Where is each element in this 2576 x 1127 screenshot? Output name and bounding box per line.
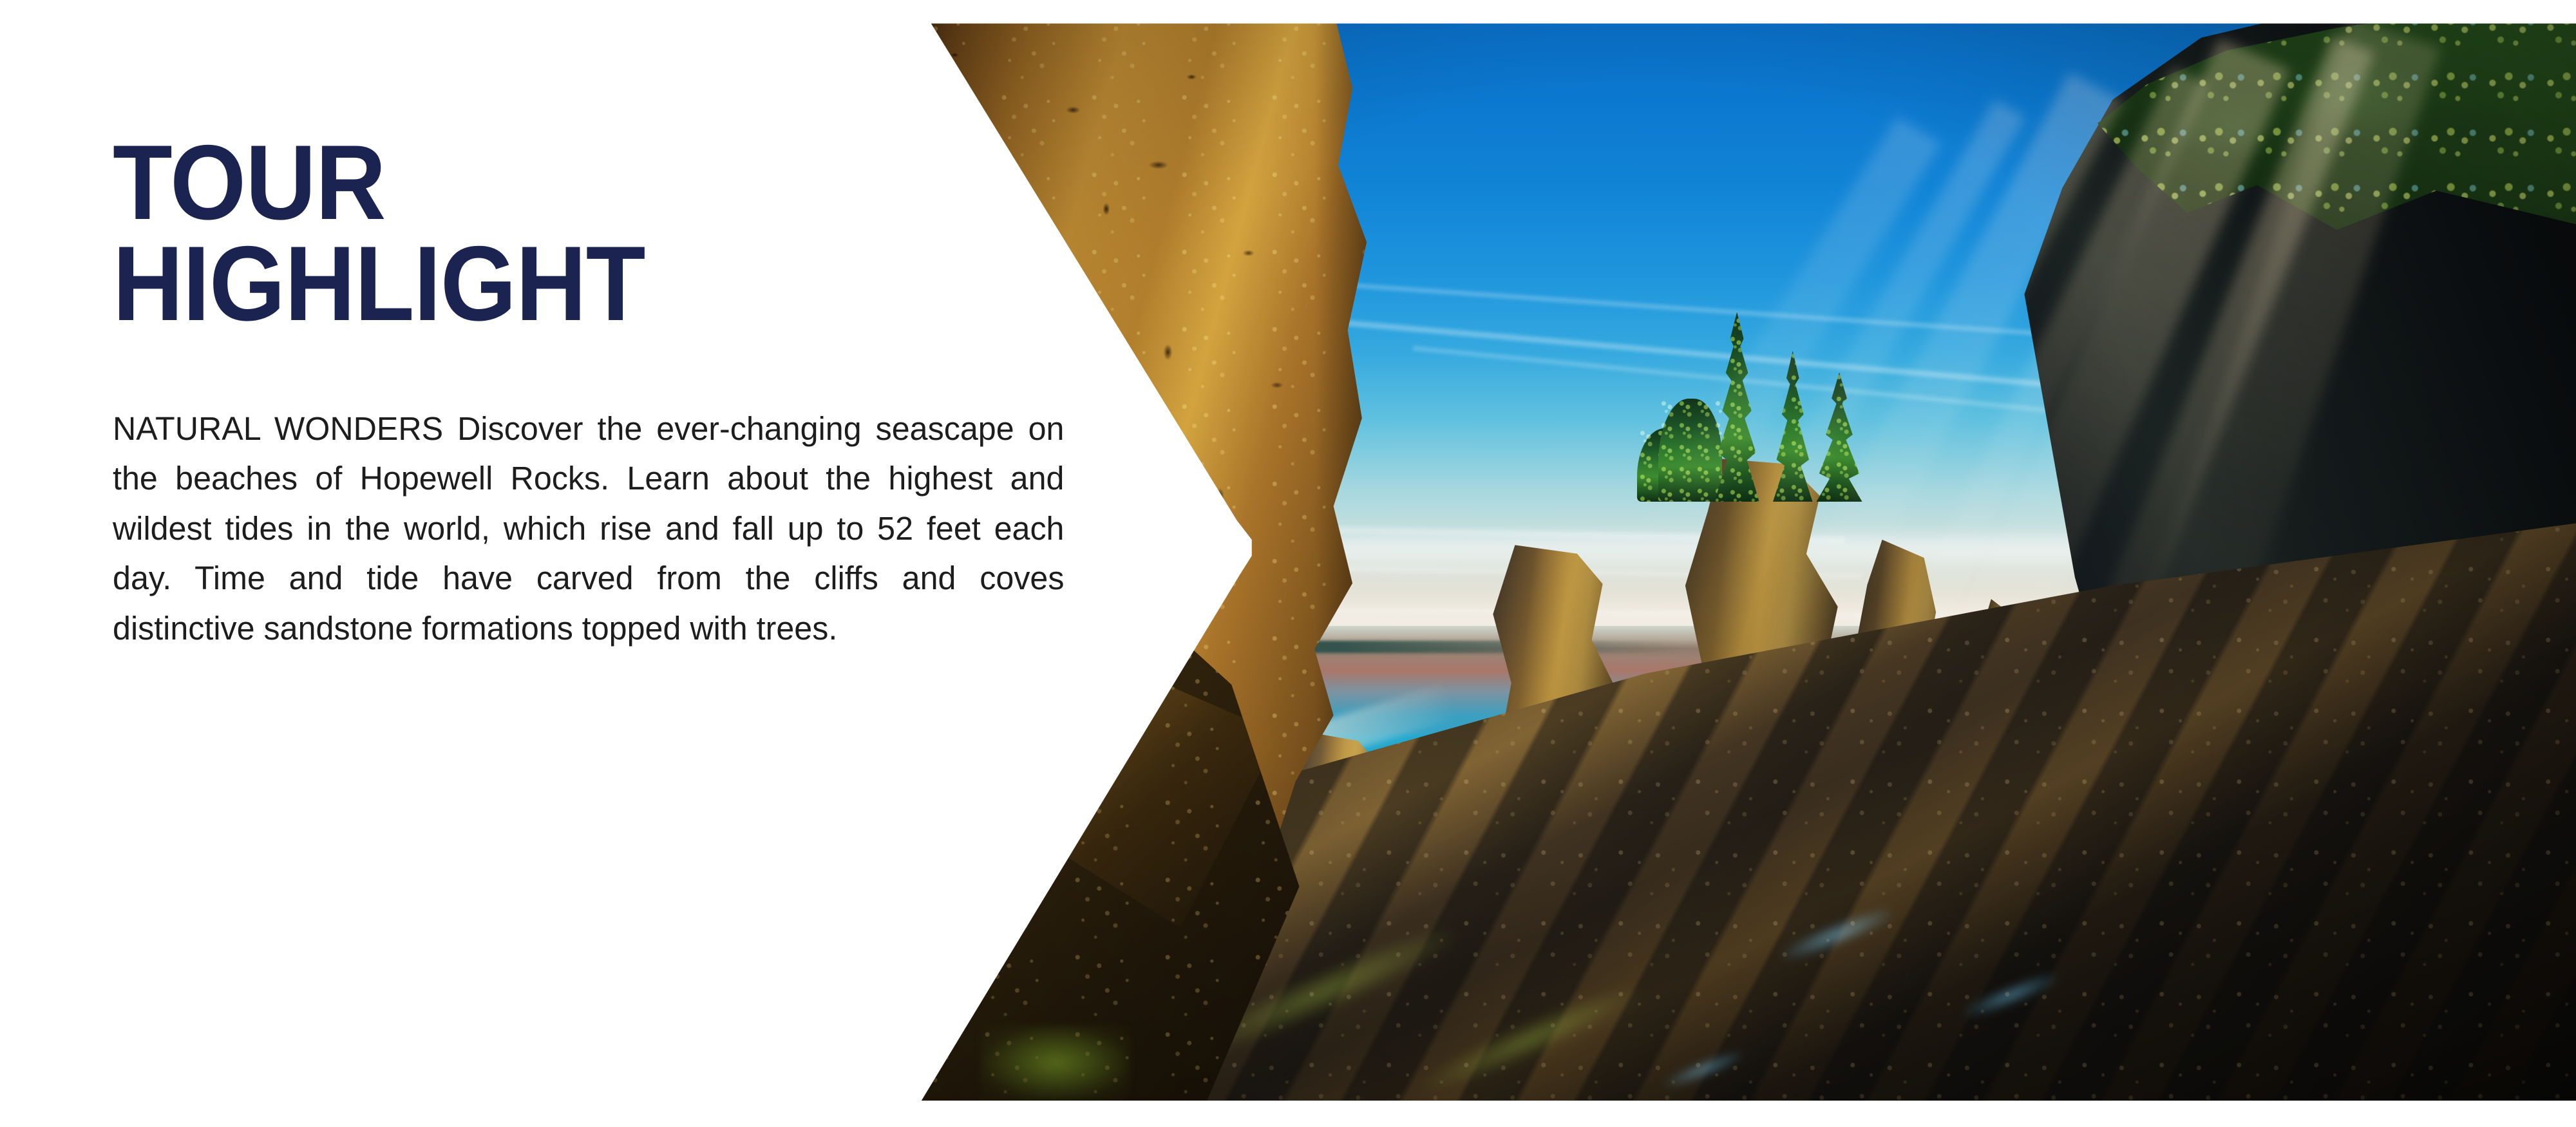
fir-tree	[1770, 351, 1815, 502]
photo-canvas	[914, 22, 2576, 1101]
conifer-cluster	[1637, 286, 1903, 502]
fir-tree	[1815, 372, 1863, 502]
body-paragraph: NATURAL WONDERS Discover the ever-changi…	[113, 334, 1065, 654]
text-column: TOUR HIGHLIGHT NATURAL WONDERS Discover …	[113, 132, 1098, 653]
page-title: TOUR HIGHLIGHT	[113, 132, 1019, 334]
tour-highlight-banner: TOUR HIGHLIGHT NATURAL WONDERS Discover …	[0, 0, 2576, 1127]
fir-tree	[1658, 399, 1722, 502]
moss-patch	[981, 1025, 1130, 1101]
hero-photo	[914, 22, 2576, 1101]
